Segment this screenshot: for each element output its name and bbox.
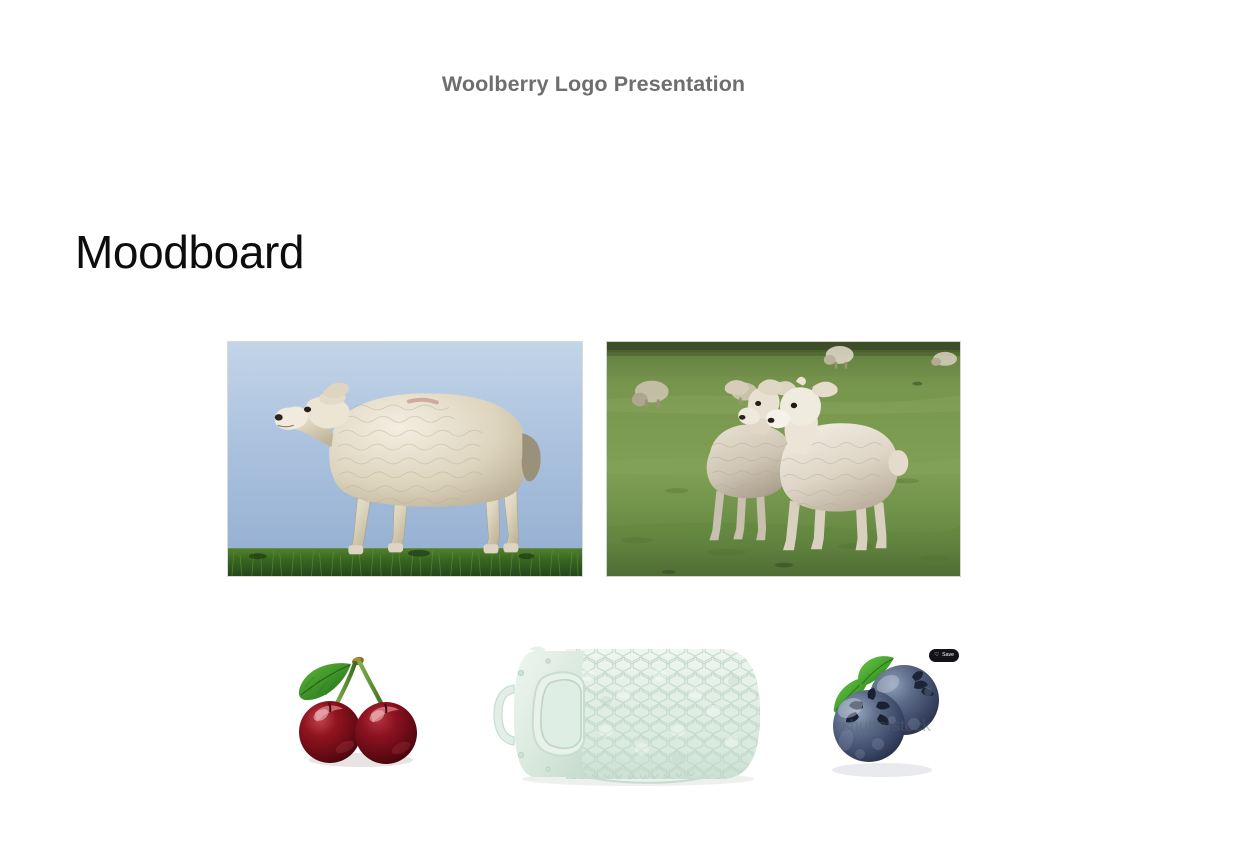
- sheep-lambs-illustration: [607, 342, 960, 576]
- sheep-ram-illustration: [228, 342, 582, 576]
- section-heading-moodboard: Moodboard: [75, 228, 304, 278]
- moodboard-image-blueberries[interactable]: shutterstock ♡ Save: [812, 644, 960, 787]
- stock-save-badge[interactable]: ♡ Save: [929, 649, 959, 662]
- cherries-illustration: [285, 643, 439, 771]
- moodboard-grid: shutterstock ♡ Save: [0, 0, 1246, 865]
- page-title: Woolberry Logo Presentation: [0, 72, 1187, 97]
- heart-icon: ♡: [934, 653, 939, 659]
- mint-pouch-illustration: [488, 641, 768, 787]
- stock-save-badge-label: Save: [942, 653, 954, 658]
- stock-watermark: shutterstock: [812, 716, 960, 736]
- moodboard-image-sheep-lambs[interactable]: [606, 341, 961, 577]
- moodboard-image-sheep-ram[interactable]: [227, 341, 583, 577]
- moodboard-image-mint-pouch[interactable]: [488, 641, 768, 787]
- moodboard-image-cherries[interactable]: [285, 643, 439, 771]
